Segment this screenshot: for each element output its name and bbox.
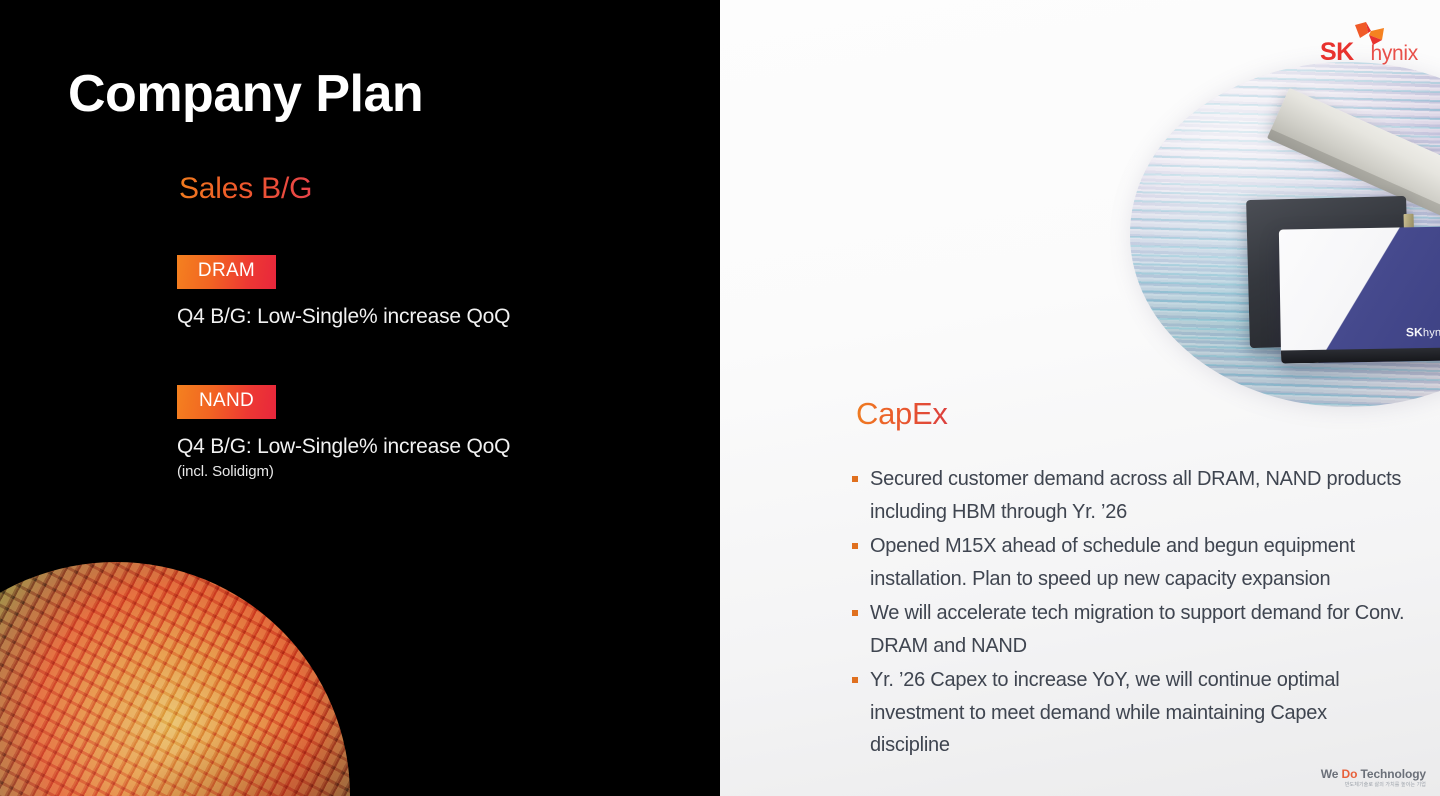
section-heading-capex: CapEx (856, 396, 948, 432)
list-item: We will accelerate tech migration to sup… (852, 597, 1410, 662)
badge-dram: DRAM (177, 255, 276, 289)
ssd-sk-hynix-logo: SKhynix (1406, 325, 1440, 340)
metric-block-dram: DRAM Q4 B/G: Low-Single% increase QoQ (177, 255, 510, 329)
metric-sub-nand: (incl. Solidigm) (177, 463, 510, 480)
section-heading-sales-bg: Sales B/G (179, 172, 312, 206)
list-item: Opened M15X ahead of schedule and begun … (852, 530, 1410, 595)
badge-nand: NAND (177, 385, 276, 419)
metric-line-dram: Q4 B/G: Low-Single% increase QoQ (177, 305, 510, 329)
footer-tagline-korean: 반도체기술로 삶의 가치를 높이는 기업 (1321, 783, 1426, 788)
page-title: Company Plan (68, 66, 423, 123)
sk-logo-text: SK (1320, 40, 1354, 65)
list-item: Yr. ’26 Capex to increase YoY, we will c… (852, 664, 1410, 762)
list-item: Secured customer demand across all DRAM,… (852, 463, 1410, 528)
metric-line-nand: Q4 B/G: Low-Single% increase QoQ (177, 435, 510, 459)
right-panel: SKhynix SK hynix CapEx Secured customer … (720, 0, 1440, 796)
capex-bullet-list: Secured customer demand across all DRAM,… (852, 463, 1410, 764)
hynix-logo-text: hynix (1370, 43, 1418, 64)
footer-tagline: We Do Technology (1321, 768, 1426, 780)
white-navy-ssd-image: SKhynix (1279, 226, 1440, 363)
footer: We Do Technology 반도체기술로 삶의 가치를 높이는 기업 (1321, 768, 1426, 788)
presentation-slide: Company Plan Sales B/G DRAM Q4 B/G: Low-… (0, 0, 1440, 796)
metric-block-nand: NAND Q4 B/G: Low-Single% increase QoQ (i… (177, 385, 510, 480)
sk-hynix-logo: SK hynix (1318, 22, 1418, 66)
left-panel: Company Plan Sales B/G DRAM Q4 B/G: Low-… (0, 0, 720, 796)
silicon-wafer-photo (0, 562, 350, 796)
